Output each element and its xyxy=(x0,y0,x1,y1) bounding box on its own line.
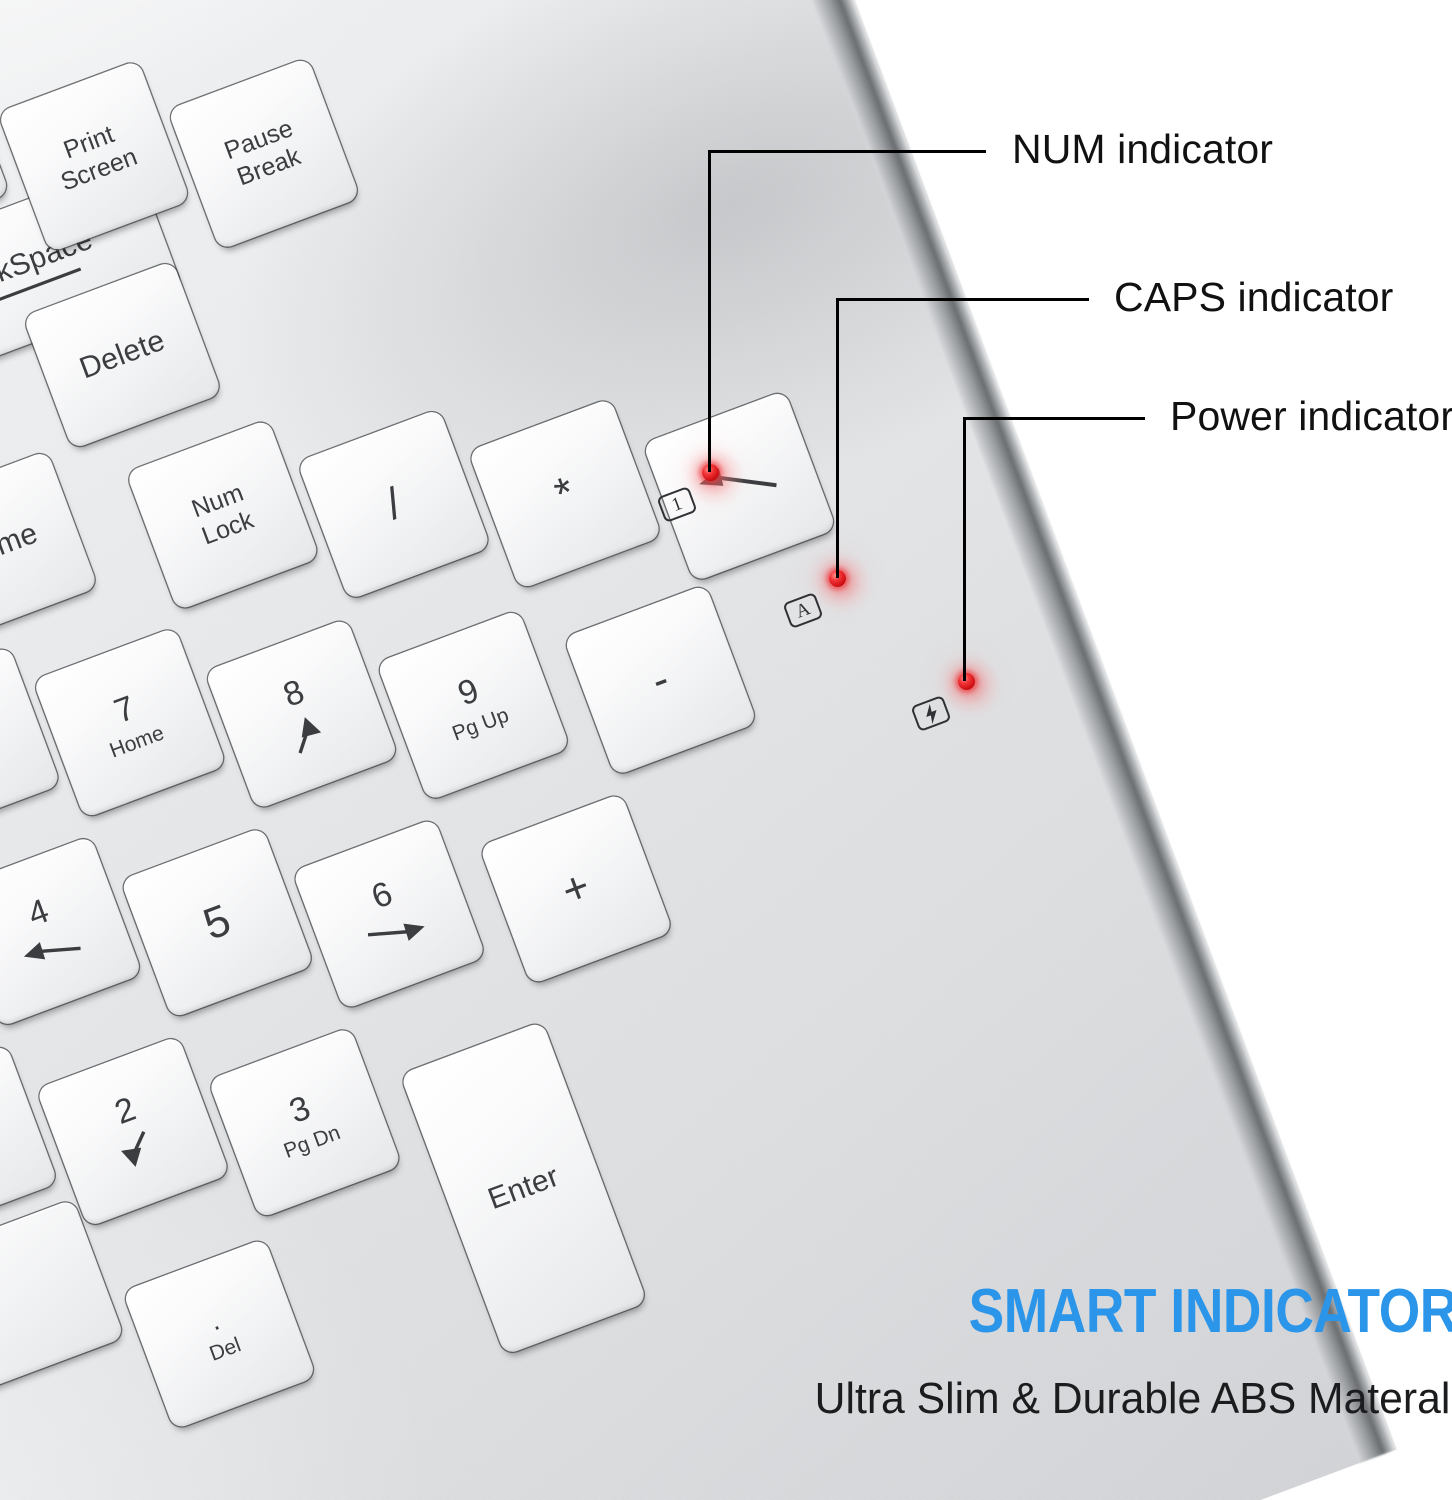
caps-symbol-label: A xyxy=(793,598,814,623)
num-led-glow xyxy=(688,450,746,508)
marketing-subheadline: Ultra Slim & Durable ABS Materal xyxy=(814,1374,1450,1424)
power-led xyxy=(958,673,975,690)
callout-label-num: NUM indicator xyxy=(1012,126,1273,173)
key-label: - xyxy=(645,655,676,705)
product-image: F11 ▤ F12 ⊡ + = } \ | BackSpace Print Sc… xyxy=(0,0,1452,1500)
key-label: 5 xyxy=(197,896,237,949)
key-label: / xyxy=(380,480,408,529)
keyboard: F11 ▤ F12 ⊡ + = } \ | BackSpace Print Sc… xyxy=(0,0,1396,1500)
num-leader-vertical xyxy=(708,150,711,472)
key-label: 3 xyxy=(285,1089,316,1130)
arrow-up-icon xyxy=(275,705,341,762)
key-label: Home xyxy=(0,517,42,576)
callout-label-power: Power indicator xyxy=(1170,393,1452,440)
key-label: 2 xyxy=(110,1091,141,1132)
key-label: 9 xyxy=(453,672,484,713)
power-leader-horizontal xyxy=(963,417,1145,420)
power-leader-vertical xyxy=(963,417,966,681)
key-label: . xyxy=(206,1306,224,1337)
key-label: 4 xyxy=(23,893,54,934)
key-label: Delete xyxy=(76,324,170,385)
arrow-right-icon xyxy=(359,904,433,961)
key-label: 6 xyxy=(367,875,398,916)
power-led-glow xyxy=(944,659,1002,717)
marketing-headline: SMART INDICATOR xyxy=(969,1276,1452,1347)
bolt-icon xyxy=(920,701,943,726)
key-label-secondary: Pg Dn xyxy=(281,1121,344,1163)
key-label: 7 xyxy=(109,689,140,730)
arrow-down-icon xyxy=(107,1122,173,1179)
caps-leader-vertical xyxy=(836,298,839,578)
key-label-secondary: Home xyxy=(107,722,167,763)
caps-led-glow xyxy=(815,556,873,614)
callout-label-caps: CAPS indicator xyxy=(1114,274,1393,321)
key-label-secondary: Pg Up xyxy=(449,704,512,746)
num-leader-horizontal xyxy=(708,150,986,153)
key-label: Enter xyxy=(484,1160,563,1216)
num-symbol-label: 1 xyxy=(669,493,686,517)
key-label: 8 xyxy=(278,673,309,714)
arrow-left-icon xyxy=(15,922,89,979)
key-label-secondary: Del xyxy=(207,1334,244,1366)
key-label: + xyxy=(556,862,597,916)
caps-leader-horizontal xyxy=(836,298,1089,301)
key-label: * xyxy=(549,469,582,520)
